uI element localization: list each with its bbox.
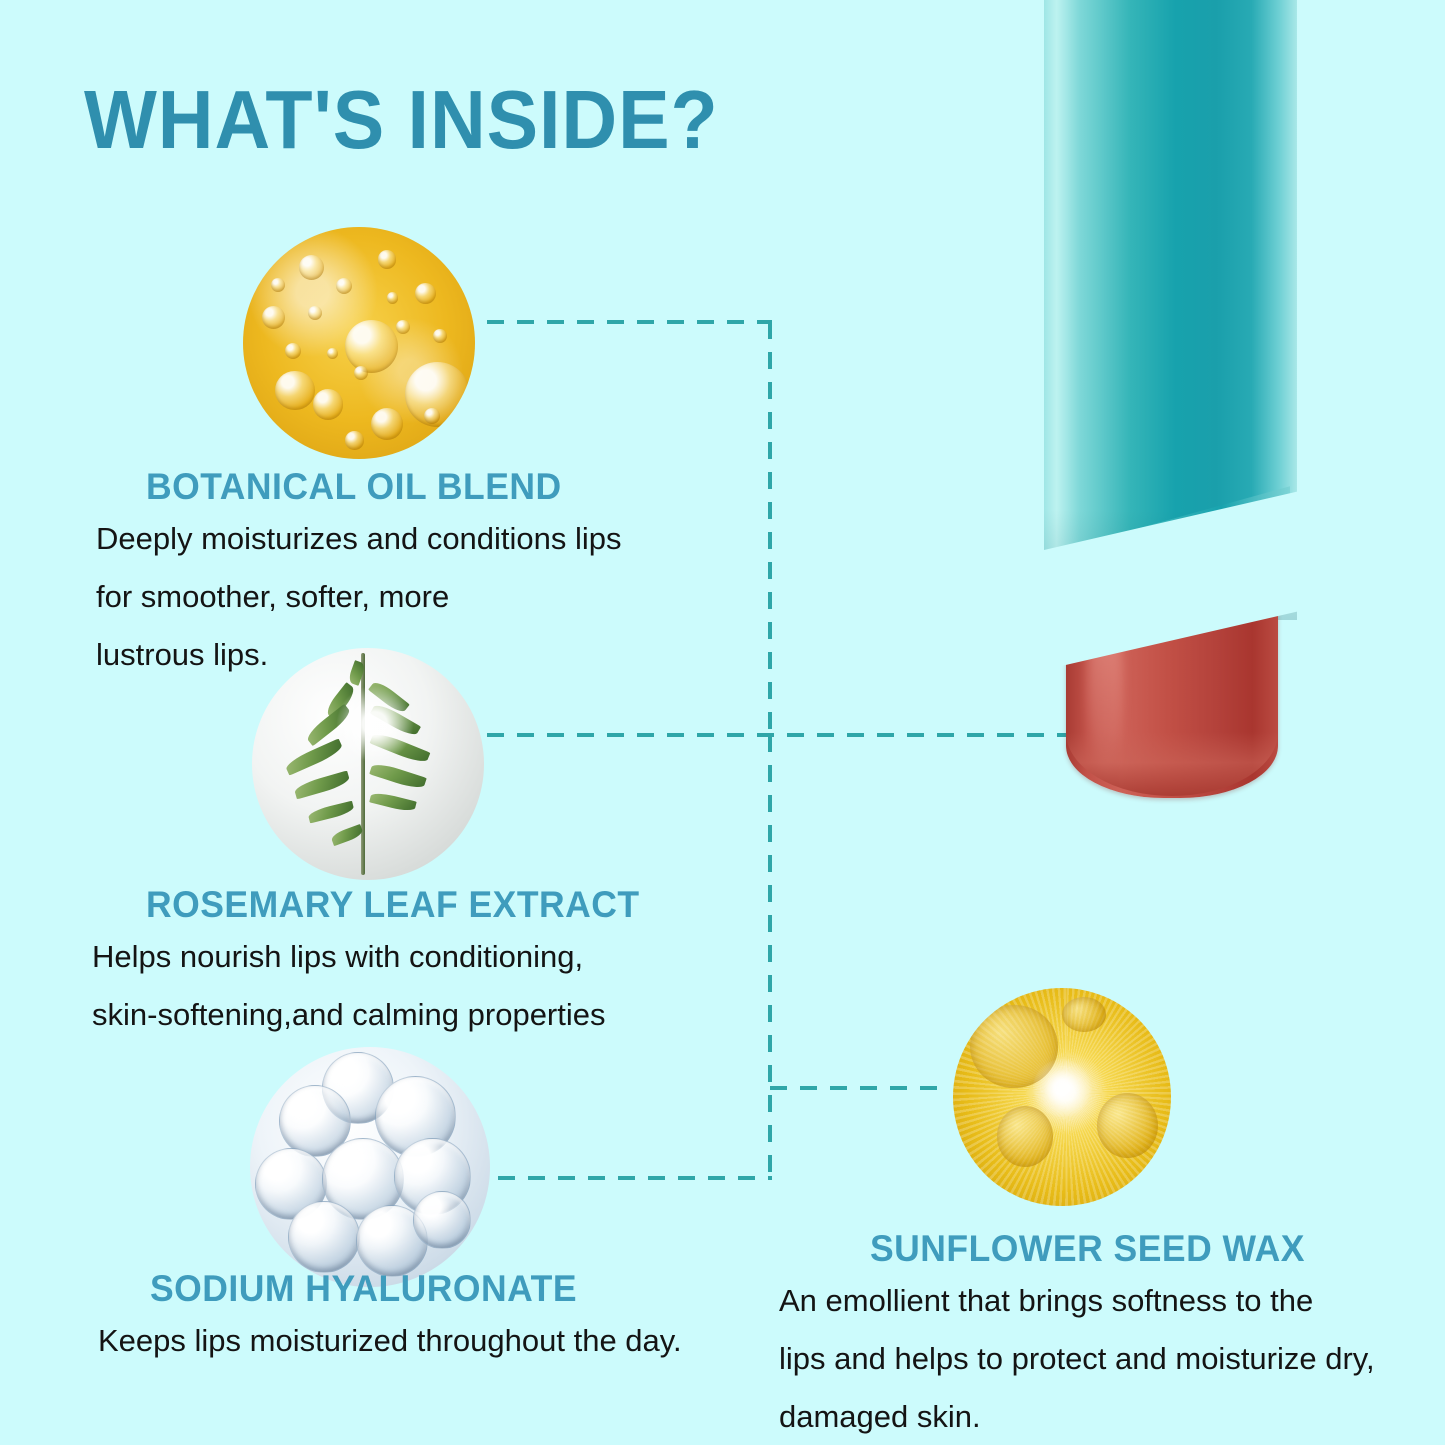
ingredient-title-sunflower-seed-wax: SUNFLOWER SEED WAX: [870, 1228, 1305, 1270]
ingredient-body-line: Helps nourish lips with conditioning,: [92, 928, 606, 986]
ingredient-body-line: Keeps lips moisturized throughout the da…: [98, 1312, 682, 1370]
ingredient-body-line: lips and helps to protect and moisturize…: [779, 1330, 1375, 1388]
ingredient-body-line: for smoother, softer, more: [96, 568, 622, 626]
ingredient-body-botanical-oil-blend: Deeply moisturizes and conditions lips f…: [96, 510, 622, 684]
ingredient-body-line: An emollient that brings softness to the: [779, 1272, 1375, 1330]
rosemary-highlight: [336, 685, 414, 763]
bullet-bottom-rim: [1066, 732, 1278, 796]
ingredient-title-sodium-hyaluronate: SODIUM HYALURONATE: [150, 1268, 577, 1310]
ingredient-body-sodium-hyaluronate: Keeps lips moisturized throughout the da…: [98, 1312, 682, 1370]
infographic-canvas: WHAT'S INSIDE?: [0, 0, 1445, 1445]
ingredient-body-rosemary-leaf-extract: Helps nourish lips with conditioning, sk…: [92, 928, 606, 1044]
page-title: WHAT'S INSIDE?: [84, 78, 719, 161]
lipstick-product-image: [1030, 0, 1310, 820]
sunflower-seed-wax-image: [953, 988, 1171, 1206]
ingredient-title-botanical-oil-blend: BOTANICAL OIL BLEND: [146, 466, 562, 508]
ingredient-body-line: skin-softening,and calming properties: [92, 986, 606, 1044]
sodium-hyaluronate-image: [250, 1047, 490, 1287]
ingredient-body-line: damaged skin.: [779, 1388, 1375, 1445]
wax-center-burst: [1033, 1059, 1091, 1117]
ingredient-title-rosemary-leaf-extract: ROSEMARY LEAF EXTRACT: [146, 884, 640, 926]
ingredient-body-line: lustrous lips.: [96, 626, 622, 684]
ingredient-body-line: Deeply moisturizes and conditions lips: [96, 510, 622, 568]
ingredient-body-sunflower-seed-wax: An emollient that brings softness to the…: [779, 1272, 1375, 1445]
botanical-oil-blend-image: [243, 227, 475, 459]
